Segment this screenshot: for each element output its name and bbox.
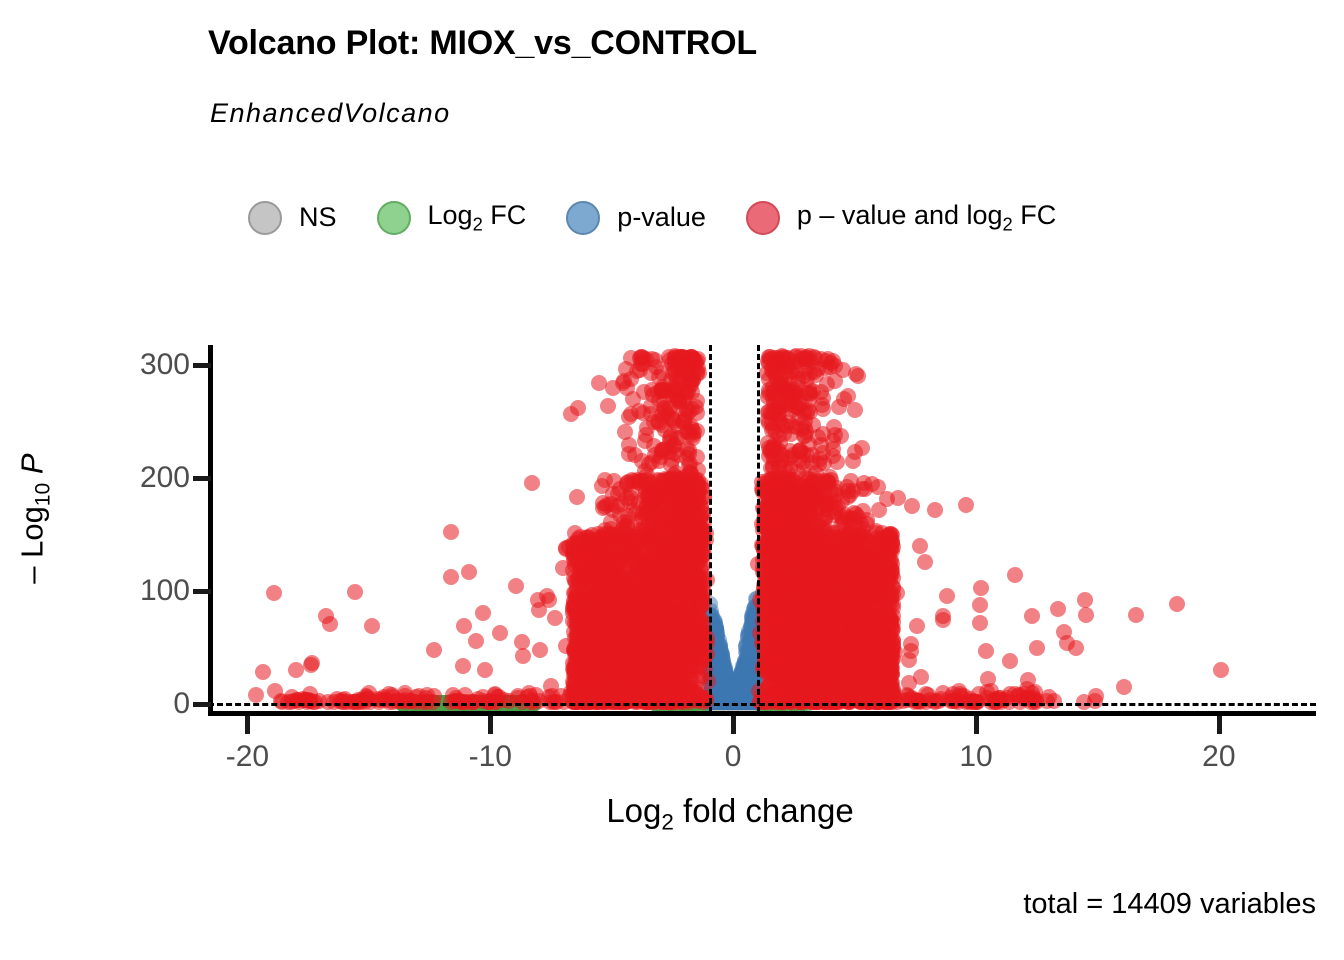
legend-label-log2fc: Log2 FC xyxy=(428,200,527,235)
legend-swatch-log2fc-icon xyxy=(377,201,411,235)
legend-label-pvalue-and-log2fc: p – value and log2 FC xyxy=(797,200,1056,235)
scatter-point xyxy=(255,664,271,680)
plot-panel[interactable] xyxy=(211,345,1316,713)
chart-legend: NS Log2 FC p-value p – value and log2 FC xyxy=(248,200,1056,235)
page-title: Volcano Plot: MIOX_vs_CONTROL xyxy=(208,24,757,63)
legend-swatch-pvalue-and-log2fc-icon xyxy=(746,201,780,235)
legend-item-pvalue-and-log2fc[interactable]: p – value and log2 FC xyxy=(746,200,1056,235)
legend-label-ns: NS xyxy=(299,202,337,233)
scatter-point xyxy=(475,605,491,621)
legend-swatch-ns-icon xyxy=(248,201,282,235)
legend-label-pvalue: p-value xyxy=(617,202,706,233)
legend-item-ns[interactable]: NS xyxy=(248,201,377,235)
legend-swatch-pvalue-icon xyxy=(566,201,600,235)
scatter-points-layer xyxy=(211,345,1316,713)
legend-item-pvalue[interactable]: p-value xyxy=(566,201,746,235)
legend-item-log2fc[interactable]: Log2 FC xyxy=(377,200,567,235)
chart-subtitle: EnhancedVolcano xyxy=(210,98,451,129)
